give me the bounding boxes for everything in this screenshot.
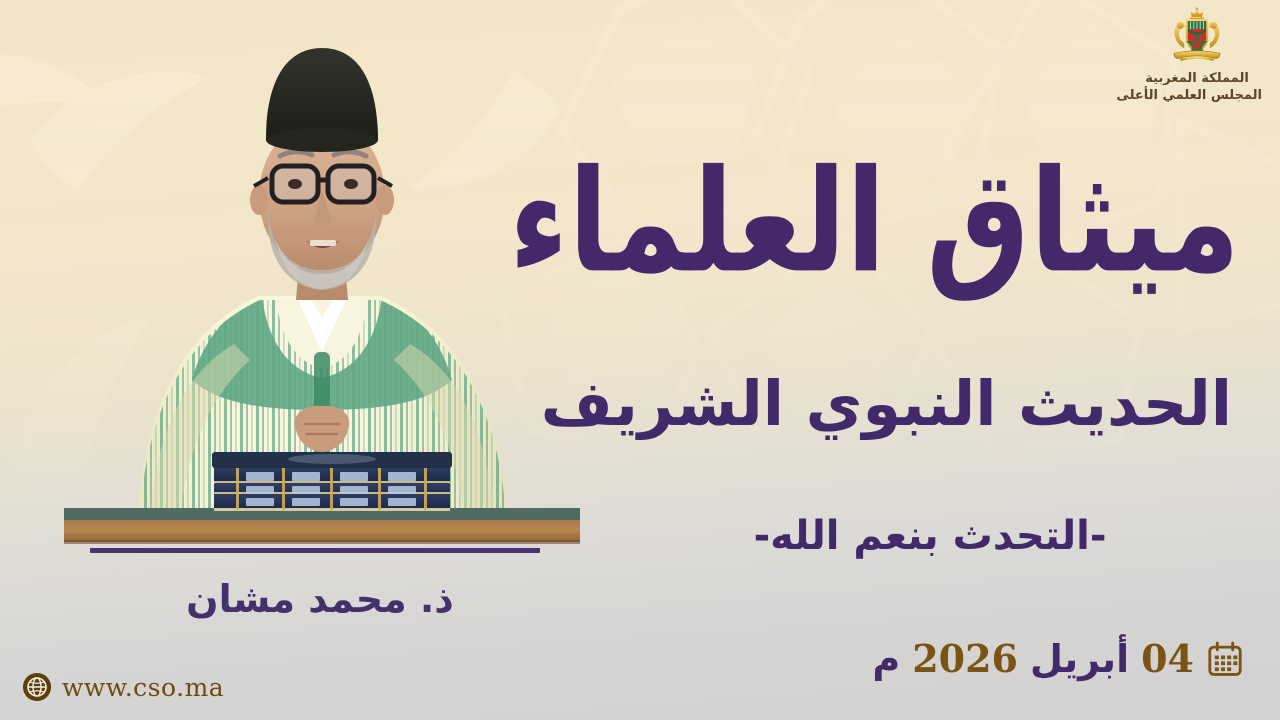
date-day: 04 bbox=[1141, 640, 1194, 678]
program-subtitle: الحديث النبوي الشريف bbox=[632, 368, 1232, 439]
website-url: www.cso.ma bbox=[62, 675, 224, 700]
date-month: أبريل bbox=[1030, 640, 1129, 678]
episode-theme: -التحدث بنعم الله- bbox=[640, 512, 1220, 560]
broadcast-title-card: ذ. محمد مشان www.cso.ma bbox=[0, 0, 1280, 720]
page-title: ميثاق العلماء bbox=[620, 152, 1240, 294]
globe-icon bbox=[22, 672, 52, 702]
broadcast-date: 04 أبريل 2026 م bbox=[872, 640, 1244, 678]
institution-logo: المملكة المغربية المجلس العلمي الأعلى bbox=[1132, 6, 1262, 104]
date-year: 2026 bbox=[912, 640, 1018, 678]
website-badge[interactable]: www.cso.ma bbox=[22, 672, 224, 702]
speaker-name: ذ. محمد مشان bbox=[0, 576, 640, 624]
logo-council-text: المجلس العلمي الأعلى bbox=[1132, 89, 1262, 104]
moroccan-coat-of-arms-icon bbox=[1165, 6, 1229, 70]
logo-kingdom-text: المملكة المغربية bbox=[1132, 72, 1262, 87]
speaker-name-divider bbox=[90, 548, 540, 553]
calendar-icon bbox=[1206, 640, 1244, 678]
date-era: م bbox=[872, 640, 900, 678]
